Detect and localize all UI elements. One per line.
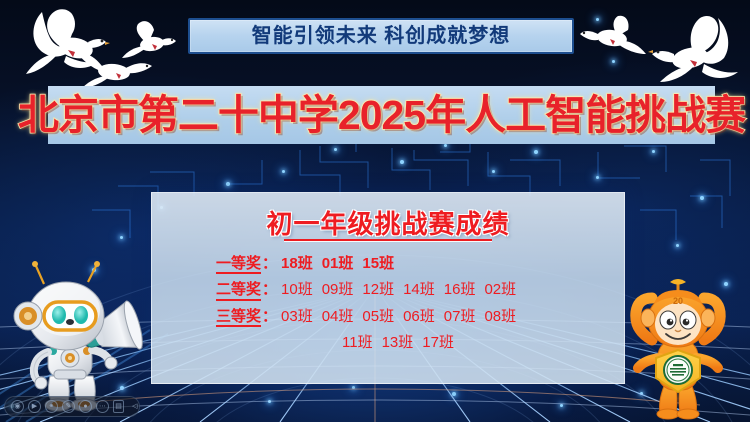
class-item: 10班 (281, 281, 313, 298)
class-item: 01班 (322, 255, 354, 272)
award-colon: ： (262, 308, 277, 325)
class-item: 02班 (484, 281, 516, 298)
subtitle-banner: 智能引领未来 科创成就梦想 (188, 18, 574, 54)
mascot-head-number: 20 (673, 296, 683, 306)
laser-pointer-icon[interactable]: ● (79, 400, 92, 413)
award-list: 一等奖：18班01班15班二等奖：10班09班12班14班16班02班三等奖：0… (152, 255, 624, 351)
results-panel: 初一年级挑战赛成绩 一等奖：18班01班15班二等奖：10班09班12班14班1… (151, 192, 625, 384)
award-label: 一等奖 (216, 255, 261, 274)
heading-underline (284, 239, 492, 241)
class-item: 08班 (484, 308, 516, 325)
class-item: 14班 (403, 281, 435, 298)
record-icon[interactable]: ◉ (11, 400, 24, 413)
class-item: 06班 (403, 308, 435, 325)
page-title: 北京市第二十中学2025年人工智能挑战赛 (18, 95, 745, 136)
award-row: 二等奖：10班09班12班14班16班02班 (216, 281, 624, 300)
presentation-slide: 智能引领未来 科创成就梦想 北京市第二十中学2025年人工智能挑战赛 初一年级挑… (0, 0, 750, 422)
award-row: 三等奖：03班04班05班06班07班08班 (216, 308, 624, 327)
award-class-list-overflow: 11班13班17班 (342, 334, 624, 351)
more-options-icon[interactable]: ⋯ (96, 400, 109, 413)
main-title-banner: 北京市第二十中学2025年人工智能挑战赛 (48, 86, 715, 144)
subtitle-text: 智能引领未来 科创成就梦想 (252, 26, 511, 46)
orange-monkey-mascot: 20 (618, 278, 738, 422)
class-item: 13班 (382, 334, 414, 351)
pen-icon[interactable]: ✎ (62, 400, 75, 413)
class-item: 09班 (322, 281, 354, 298)
link-icon[interactable]: ⚭ (45, 400, 58, 413)
class-item: 05班 (362, 308, 394, 325)
dove-top-right-large (646, 6, 750, 92)
panel-heading: 初一年级挑战赛成绩 (152, 211, 624, 237)
class-item: 03班 (281, 308, 313, 325)
presentation-toolbar[interactable]: ◉▶⚭✎●⋯▤ ◁ (4, 396, 140, 417)
class-item: 11班 (342, 334, 373, 351)
class-item: 16班 (444, 281, 476, 298)
play-icon[interactable]: ▶ (28, 400, 41, 413)
dove-top-right-small (578, 12, 652, 62)
award-colon: ： (262, 281, 277, 298)
class-item: 18班 (281, 255, 313, 272)
award-class-list: 18班01班15班 (281, 255, 403, 272)
class-item: 07班 (444, 308, 476, 325)
class-item: 15班 (362, 255, 394, 272)
award-class-list: 03班04班05班06班07班08班 (281, 308, 525, 325)
award-colon: ： (262, 255, 277, 272)
award-label: 二等奖 (216, 281, 261, 300)
class-item: 04班 (322, 308, 354, 325)
award-label: 三等奖 (216, 308, 261, 327)
class-item: 12班 (362, 281, 394, 298)
award-class-list: 10班09班12班14班16班02班 (281, 281, 525, 298)
presenter-view-icon[interactable]: ▤ (113, 400, 124, 413)
award-row: 一等奖：18班01班15班 (216, 255, 624, 274)
class-item: 17班 (422, 334, 454, 351)
collapse-left-icon[interactable]: ◁ (132, 400, 137, 413)
